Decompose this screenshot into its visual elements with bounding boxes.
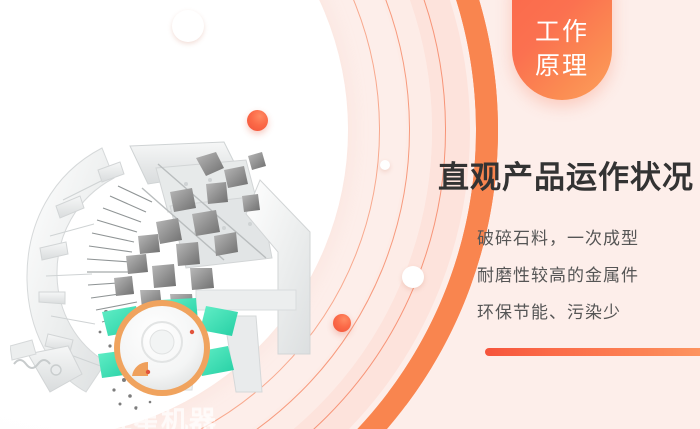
list-item: 耐磨性较高的金属件: [477, 257, 639, 294]
decor-dot-coral-lower: [333, 314, 351, 332]
pivot-pin: [51, 365, 61, 375]
accent-underline-bar: [485, 348, 700, 356]
decor-dot-small-white: [380, 160, 390, 170]
product-illustration: 红星机器 HONGXING MACHINERY: [10, 140, 320, 420]
rotor-marker-a: [190, 330, 194, 334]
badge-line-1: 工作: [535, 15, 589, 49]
crusher-diagram: [10, 140, 320, 420]
decor-dot-medium-white: [402, 266, 424, 288]
feature-list: 破碎石料，一次成型 耐磨性较高的金属件 环保节能、污染少: [477, 220, 639, 331]
decor-dot-large-white: [172, 10, 204, 42]
banner-stage: 红星机器 HONGXING MACHINERY 工作 原理 直观产品运作状况 破…: [0, 0, 700, 429]
list-item: 破碎石料，一次成型: [477, 220, 639, 257]
page-title: 直观产品运作状况: [438, 152, 694, 197]
rotor-marker-b: [146, 370, 150, 374]
rotor-shaft: [150, 330, 174, 354]
badge-line-2: 原理: [535, 49, 589, 83]
list-item: 环保节能、污染少: [477, 294, 639, 331]
section-badge: 工作 原理: [512, 0, 612, 100]
decor-dot-coral-upper: [247, 110, 268, 131]
